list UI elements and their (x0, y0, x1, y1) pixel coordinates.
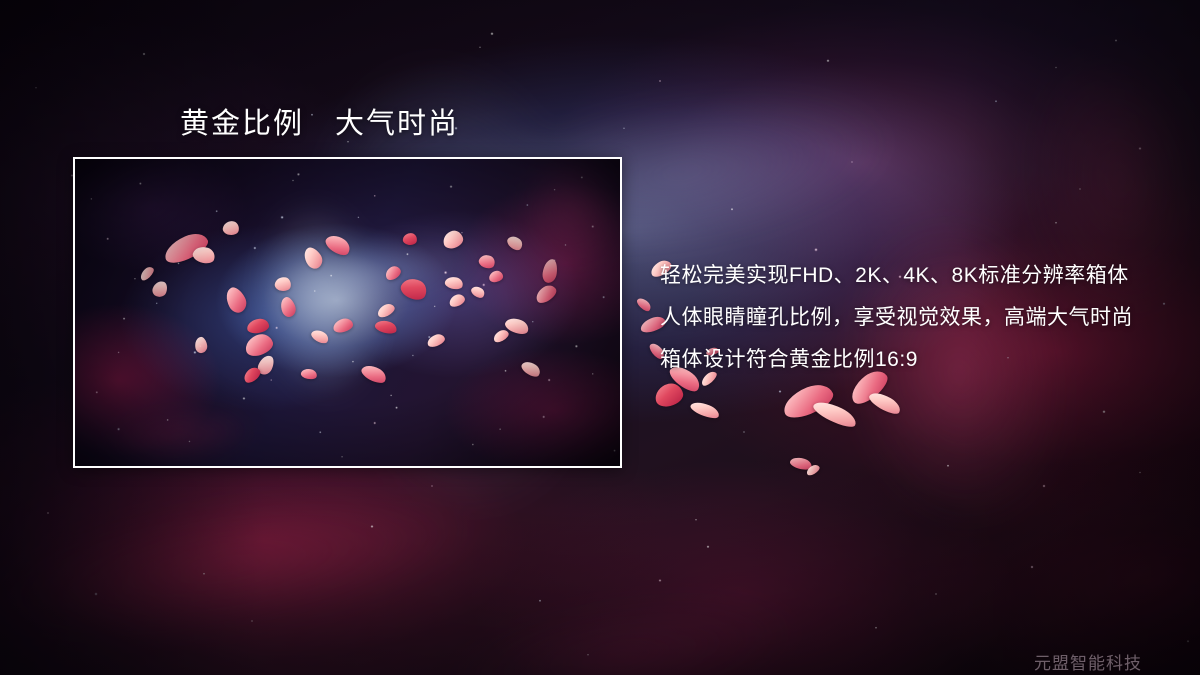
frame-vignette (75, 159, 620, 466)
image-frame-content (75, 159, 620, 466)
body-line-3: 箱体设计符合黄金比例16:9 (660, 339, 1160, 381)
watermark: 元盟智能科技 (1034, 649, 1142, 674)
body-line-1: 轻松完美实现FHD、2K、4K、8K标准分辨率箱体 (660, 255, 1160, 297)
slide-stage: 黄金比例 大气时尚 (0, 0, 1200, 675)
page-title: 黄金比例 大气时尚 (180, 100, 459, 142)
body-line-2: 人体眼睛瞳孔比例，享受视觉效果，高端大气时尚 (660, 297, 1160, 339)
body-text-block: 轻松完美实现FHD、2K、4K、8K标准分辨率箱体 人体眼睛瞳孔比例，享受视觉效… (660, 255, 1160, 381)
image-frame (73, 157, 622, 468)
